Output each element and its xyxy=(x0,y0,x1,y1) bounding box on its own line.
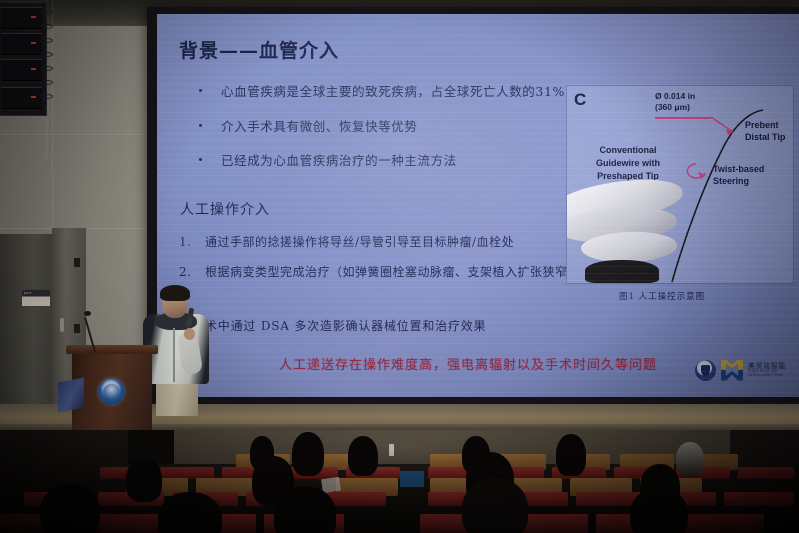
section-heading: 人工操作介入 xyxy=(180,199,270,219)
seat xyxy=(738,467,794,479)
presentation-slide: 背景——血管介入 心血管疾病是全球主要的致死疾病，占全球死亡人数的31% 介入手… xyxy=(157,14,799,397)
slide-title: 背景——血管介入 xyxy=(179,36,339,63)
audience-area xyxy=(0,430,799,533)
monogram-w-icon xyxy=(721,370,743,381)
item-number: 2. xyxy=(179,263,191,281)
rack-unit xyxy=(1,33,42,55)
lecture-hall-photo: EXIT 背景——血管介入 心血管疾病是全球主要的致死疾病，占全球死亡人数的31… xyxy=(0,0,799,533)
university-shield-icon xyxy=(695,360,716,381)
item-text: 根据病变类型完成治疗（如弹簧圈栓塞动脉瘤、支架植入扩张狭窄血管） xyxy=(205,265,605,279)
dsa-note: 术中通过 DSA 多次造影确认器械位置和治疗效果 xyxy=(205,317,486,334)
figure-image: C Ø 0.014 in (360 μm) Prebent Distal Tip… xyxy=(567,86,793,283)
rack-unit xyxy=(1,87,42,109)
bullet-dot-icon xyxy=(199,89,202,92)
figure-panel: C Ø 0.014 in (360 μm) Prebent Distal Tip… xyxy=(567,86,793,283)
numbered-item: 2. 根据病变类型完成治疗（如弹簧圈栓塞动脉瘤、支架植入扩张狭窄血管） xyxy=(179,263,609,281)
org-name-en: SHEN MING WU INTELLIGENT ENG xyxy=(748,370,791,378)
emblem-inner xyxy=(103,384,120,399)
presenter-hand xyxy=(184,328,195,340)
rack-unit xyxy=(1,7,42,29)
highlighted-conclusion: 人工递送存在操作难度高，强电离辐射以及手术时间久等问题 xyxy=(279,354,657,373)
figure-caption: 图1 人工操控示意图 xyxy=(619,290,705,302)
item-text: 通过手部的捻搓操作将导丝/导管引导至目标肿瘤/血栓处 xyxy=(205,235,514,249)
seat xyxy=(684,514,764,533)
shield-crest-icon xyxy=(701,365,710,376)
door[interactable] xyxy=(0,234,56,430)
mw-monogram-icon xyxy=(721,360,743,381)
bullet-text: 心血管疾病是全球主要的致死疾病，占全球死亡人数的31% xyxy=(221,84,565,99)
audience-head xyxy=(348,436,378,476)
rack-led-icon xyxy=(31,42,36,44)
rack-led-icon xyxy=(31,96,36,98)
dimension-arrow xyxy=(711,117,733,132)
podium-top-surface xyxy=(66,345,158,354)
blue-object xyxy=(400,471,424,487)
door-hinge xyxy=(74,324,80,333)
door-handle[interactable] xyxy=(60,318,64,332)
numbered-item: 1. 通过手部的捻搓操作将导丝/导管引导至目标肿瘤/血栓处 xyxy=(179,233,609,251)
organization-name: 美贸铭智能 SHEN MING WU INTELLIGENT ENG xyxy=(748,363,791,378)
laptop-on-podium xyxy=(58,378,84,413)
jacket-zipper xyxy=(173,328,175,382)
water-bottle xyxy=(389,444,394,456)
audience-head xyxy=(126,458,162,502)
bullet-dot-icon xyxy=(199,158,202,161)
audience-head xyxy=(40,484,100,533)
seat xyxy=(88,514,168,533)
wall-sign-label: EXIT xyxy=(22,290,50,296)
audience-head xyxy=(292,432,324,476)
wall-sign: EXIT xyxy=(21,289,51,307)
rack-led-icon xyxy=(31,68,36,70)
podium-microphone-head-icon xyxy=(84,311,91,316)
wall-seam xyxy=(0,134,150,135)
rack-led-icon xyxy=(31,16,36,18)
audience-head xyxy=(462,478,528,533)
seat xyxy=(724,492,794,506)
rack-unit xyxy=(1,59,42,81)
audience-head xyxy=(630,488,688,533)
hand-shadow xyxy=(585,260,659,283)
projection-screen: 背景——血管介入 心血管疾病是全球主要的致死疾病，占全球死亡人数的31% 介入手… xyxy=(157,14,799,397)
podium-emblem-icon xyxy=(98,378,125,405)
audience-head xyxy=(274,486,336,533)
presenter-trousers xyxy=(156,380,198,416)
bullet-text: 已经成为心血管疾病治疗的一种主流方法 xyxy=(221,153,457,168)
audience-head xyxy=(556,434,586,476)
gloved-hand-photo xyxy=(567,178,719,283)
monogram-m-icon xyxy=(721,360,743,370)
numbered-list: 1. 通过手部的捻搓操作将导丝/导管引导至目标肿瘤/血栓处 2. 根据病变类型完… xyxy=(179,233,609,293)
organization-logos: 美贸铭智能 SHEN MING WU INTELLIGENT ENG xyxy=(695,357,791,383)
audience-head xyxy=(158,492,222,533)
audience-head xyxy=(676,442,704,476)
bullet-dot-icon xyxy=(199,124,202,127)
bullet-text: 介入手术具有微创、恢复快等优势 xyxy=(221,119,418,134)
cable-bundle xyxy=(40,6,54,114)
item-number: 1. xyxy=(179,233,191,251)
door-hinge xyxy=(74,258,80,267)
presenter-hair xyxy=(160,285,190,301)
